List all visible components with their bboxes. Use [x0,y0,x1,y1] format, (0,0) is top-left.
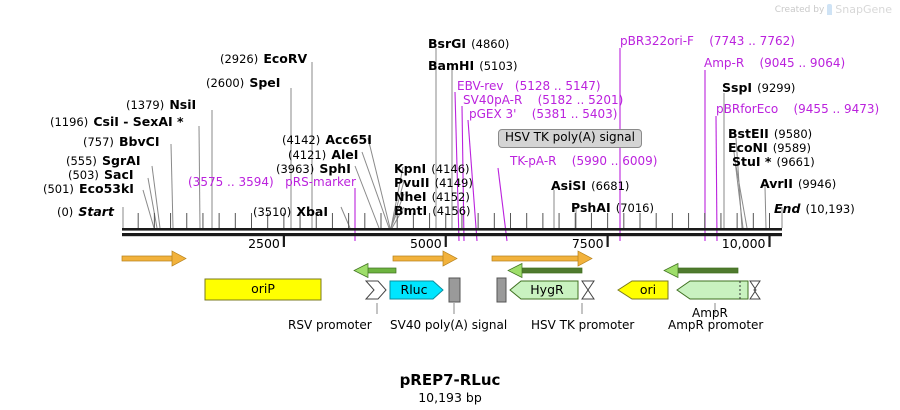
site-name: SspI [722,80,752,95]
feature-grey-block-1 [449,278,460,302]
site-label-bamhi[interactable]: BamHI (5103) [428,57,517,73]
green-arrows [354,264,738,278]
primer-range: (7743 .. 7762) [709,34,795,48]
primer-range: (5381 .. 5403) [532,107,618,121]
site-pos: (9299) [757,81,795,95]
primer-range: (9455 .. 9473) [793,102,879,116]
site-label-xbai[interactable]: (3510) XbaI [253,203,328,219]
site-name: End [774,201,800,216]
feature-caption-sv40-polya: SV40 poly(A) signal [390,319,507,331]
primer-label-tk-pa-r[interactable]: TK-pA-R (5990 .. 6009) [510,155,657,167]
primer-name: pBRforEco [716,102,778,116]
green-arrow-hygr [508,264,582,278]
axis-tick-label: 7500 [572,236,604,251]
site-label-acc65i[interactable]: (4142) Acc65I [282,131,372,147]
site-name: Start [78,204,114,219]
promoter-arrow-hsvtk [492,251,592,266]
site-name: BmtI [394,203,427,218]
site-name: XbaI [296,204,328,219]
site-pos: (3510) [253,205,291,219]
primer-label-sv40pa-r[interactable]: SV40pA-R (5182 .. 5201) [463,94,623,106]
site-pos: (4156) [432,204,470,218]
axis-tick-label: 5000 [410,236,442,251]
feature-open-arrow-left [366,281,386,299]
site-name: BsrGI [428,36,466,51]
primer-name: pBR322ori-F [620,34,694,48]
site-name: BamHI [428,58,474,73]
site-label-csii-sexai[interactable]: (1196) CsiI - SexAI * [50,113,184,129]
axis-tick-label: 10,000 [722,236,766,251]
primer-name: Amp-R [704,56,744,70]
feature-ampr[interactable] [677,281,748,299]
backbone-line-top [122,228,782,231]
site-label-start[interactable]: (0) Start [57,203,114,219]
site-label-ecorv[interactable]: (2926) EcoRV [220,50,307,66]
site-pos: (503) [68,168,99,182]
feature-caption-rsv-promoter: RSV promoter [288,319,372,331]
site-pos: (555) [66,154,97,168]
site-pos: (6681) [591,179,629,193]
feature-label-orip: oriP [205,283,321,296]
feature-label-leaders [377,303,715,314]
site-label-sphi[interactable]: (3963) SphI [276,160,351,176]
green-arrow-sv40 [354,264,396,278]
site-pos: (3963) [276,162,314,176]
primer-range: (9045 .. 9064) [759,56,845,70]
site-name: StuI * [732,154,771,169]
primer-label-pbr322ori-f[interactable]: pBR322ori-F (7743 .. 7762) [620,35,795,47]
site-label-stui[interactable]: StuI * (9661) [732,153,815,169]
primer-name: pGEX 3' [469,107,516,121]
site-name: AsiSI [551,178,586,193]
green-arrow-ampr [664,264,738,278]
feature-open-arrow-hygr [582,281,594,299]
feature-label-ori: ori [630,284,666,297]
site-name: CsiI - SexAI * [93,114,183,129]
primer-label-ebv-rev[interactable]: EBV-rev (5128 .. 5147) [457,80,601,92]
site-name: SphI [319,161,351,176]
primer-name: TK-pA-R [510,154,557,168]
promoter-arrow-mid [393,251,457,266]
hsv-tk-polya-badge[interactable]: HSV TK poly(A) signal [498,129,642,148]
site-name: EcoRV [263,51,307,66]
primer-name: pRS-marker [285,175,356,189]
primer-range: (5182 .. 5201) [538,93,624,107]
site-name: PshAI [571,200,611,215]
site-pos: (5103) [479,59,517,73]
site-label-bbvci[interactable]: (757) BbvCI [83,133,159,149]
site-pos: (4860) [471,37,509,51]
site-label-pshai[interactable]: PshAI (7016) [571,199,654,215]
site-name: SpeI [249,75,280,90]
site-name: SgrAI [102,153,140,168]
backbone-line-bottom [122,233,782,236]
axis-tick-label: 2500 [248,236,280,251]
primer-name: EBV-rev [457,79,503,93]
site-label-sgrai[interactable]: (555) SgrAI [66,152,140,168]
site-pos: (1196) [50,115,88,129]
site-pos: (2926) [220,52,258,66]
site-label-alei[interactable]: (4121) AleI [288,146,358,162]
site-label-avrii[interactable]: AvrII (9946) [760,175,836,191]
feature-grey-block-2 [497,278,506,302]
site-pos: (10,193) [805,202,854,216]
site-label-eco53ki[interactable]: (501) Eco53kI [43,180,134,196]
site-pos: (4142) [282,133,320,147]
site-pos: (2600) [206,76,244,90]
site-label-end[interactable]: End (10,193) [774,200,855,216]
feature-label-rluc: Rluc [392,284,436,297]
site-name: NsiI [169,97,196,112]
primer-label-amp-r[interactable]: Amp-R (9045 .. 9064) [704,57,845,69]
primer-label-pbrforeco[interactable]: pBRforEco (9455 .. 9473) [716,103,879,115]
site-name: Eco53kI [79,181,134,196]
site-name: AleI [331,147,358,162]
primer-name: SV40pA-R [463,93,522,107]
site-pos: (1379) [126,98,164,112]
plasmid-length: 10,193 bp [0,390,900,405]
site-pos: (4121) [288,148,326,162]
site-label-bsrgi[interactable]: BsrGI (4860) [428,35,509,51]
site-label-sspi[interactable]: SspI (9299) [722,79,795,95]
site-pos: (501) [43,182,74,196]
site-name: AvrII [760,176,793,191]
page-title: pREP7-RLuc [0,371,900,389]
feature-caption-ampr-promoter: AmpR promoter [668,319,763,331]
primer-range: (3575 .. 3594) [188,175,274,189]
site-pos: (757) [83,135,114,149]
primer-range: (5128 .. 5147) [515,79,601,93]
feature-open-arrow-ampr [750,281,760,299]
feature-label-hygr: HygR [518,284,576,297]
site-name: SacI [104,167,134,182]
primer-range: (5990 .. 6009) [572,154,658,168]
site-label-nsii[interactable]: (1379) NsiI [126,96,196,112]
promoter-arrow-rsv [122,251,186,266]
site-pos: (9946) [798,177,836,191]
site-label-bmti[interactable]: BmtI (4156) [394,202,471,218]
site-pos: (9661) [777,155,815,169]
primer-label-prs-marker[interactable]: (3575 .. 3594) pRS-marker [188,176,356,188]
primer-label-pgex3[interactable]: pGEX 3' (5381 .. 5403) [469,108,617,120]
site-pos: (7016) [616,201,654,215]
site-label-spei[interactable]: (2600) SpeI [206,74,280,90]
feature-caption-hsv-tk-promoter: HSV TK promoter [531,319,634,331]
site-label-asisi[interactable]: AsiSI (6681) [551,177,629,193]
site-name: BbvCI [119,134,159,149]
site-name: Acc65I [325,132,372,147]
site-pos: (0) [57,205,73,219]
